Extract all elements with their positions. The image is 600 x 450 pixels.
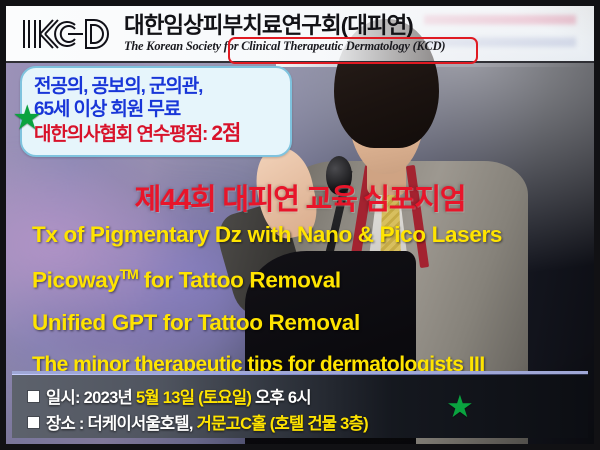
program-list: Tx of Pigmentary Dz with Nano & Pico Las… [32,224,592,375]
poster-inner-canvas: 대한임상피부치료연구회(대피연) The Korean Society for … [6,6,594,444]
poster-root: 대한임상피부치료연구회(대피연) The Korean Society for … [0,0,600,450]
symposium-title: 제44회 대피연 교육 심포지엄 [6,176,594,218]
bullet-square-icon-date [28,391,39,402]
notice-line-2: 65세 이상 회원 무료 [34,98,280,121]
kcd-logo-icon [20,16,112,52]
notice-line-1: 전공의, 공보의, 군의관, [34,75,280,98]
org-name-ko: 대한임상피부치료연구회(대피연) [124,14,445,38]
date-highlight: 5월 13일 (토요일) [136,389,251,407]
header-titles: 대한임상피부치료연구회(대피연) The Korean Society for … [124,14,445,54]
poster-header: 대한임상피부치료연구회(대피연) The Korean Society for … [6,6,594,62]
star-icon-bottom: ★ [446,391,474,422]
notice-bubble: 전공의, 공보의, 군의관, 65세 이상 회원 무료 대한의사협회 연수평점:… [20,66,292,157]
program-line-3: Unified GPT for Tattoo Removal [32,312,592,335]
place-label: 장소 : [46,415,84,433]
date-label: 일시: [46,389,80,407]
date-year: 2023년 [84,389,132,407]
notice-line-3: 대한의사협회 연수평점: 2점 [34,121,280,147]
event-place-row: 장소 : 더케이서울호텔, 거문고C홀 (호텔 건물 3층) [28,410,368,434]
star-icon-left: ★ [12,101,42,135]
place-hotel: 더케이서울호텔, [88,415,193,433]
program-line-2: PicowayTM for Tattoo Removal [32,267,592,292]
program-line-2-prefix: Picoway [32,267,120,292]
place-hall: 거문고C홀 (호텔 건물 3층) [197,415,368,433]
event-date-row: 일시: 2023년 5월 13일 (토요일) 오후 6시 [28,384,311,408]
date-time: 오후 6시 [255,389,311,407]
trademark-symbol: TM [120,266,138,282]
program-line-2-suffix: for Tattoo Removal [138,267,341,292]
org-name-en: The Korean Society for Clinical Therapeu… [124,39,445,54]
cme-label: 대한의사협회 연수평점: [34,124,207,145]
header-divider [6,61,594,63]
cme-points: 2점 [211,122,240,145]
event-info-bar: 일시: 2023년 5월 13일 (토요일) 오후 6시 장소 : 더케이서울호… [12,371,588,438]
info-bar-top-glow [12,371,588,375]
bullet-square-icon-place [28,417,39,428]
program-line-1: Tx of Pigmentary Dz with Nano & Pico Las… [32,224,592,247]
